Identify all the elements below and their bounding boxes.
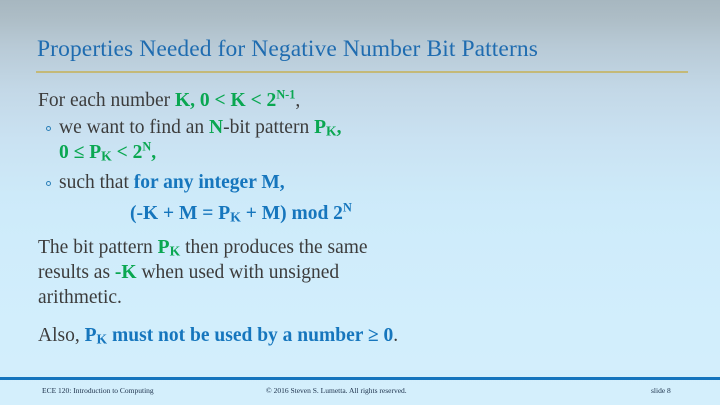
line6-suffix: then produces the same: [180, 237, 367, 258]
line2-prefix: we want to find an: [59, 117, 209, 138]
line2-p-subscript: K: [326, 123, 337, 138]
line9-prefix: Also,: [38, 325, 85, 346]
bullet-circle-icon: [46, 181, 51, 186]
body-line-1: For each number K, 0 < K < 2N-1,: [38, 88, 720, 113]
body-line-9: Also, PK must not be used by a number ≥ …: [38, 323, 720, 348]
line8-text: arithmetic.: [38, 287, 122, 308]
line9-period: .: [393, 325, 398, 346]
line3-math-prefix: 0 ≤ P: [59, 142, 101, 163]
footer-slide-number: slide 8: [651, 386, 671, 395]
line9-p: P: [85, 325, 97, 346]
equation-mid: + M) mod 2: [241, 203, 343, 224]
line1-math: K, 0 < K < 2: [175, 90, 276, 111]
body-line-5-equation: (-K + M = PK + M) mod 2N: [130, 201, 720, 226]
body-line-8: arithmetic.: [38, 285, 720, 310]
equation-superscript: N: [343, 201, 352, 215]
line9-emphasis: must not be used by a number ≥ 0: [107, 325, 393, 346]
body-line-6: The bit pattern PK then produces the sam…: [38, 235, 720, 260]
body-line-7: results as -K when used with unsigned: [38, 260, 720, 285]
equation-subscript: K: [230, 209, 241, 224]
footer-divider-bar: [0, 377, 720, 380]
title-underline-rule: [36, 71, 688, 73]
equation-prefix: (-K + M = P: [130, 203, 230, 224]
line7-prefix: results as: [38, 262, 115, 283]
line9-p-subscript: K: [97, 331, 108, 346]
presentation-slide: Properties Needed for Negative Number Bi…: [0, 0, 720, 405]
line3-superscript: N: [142, 140, 151, 154]
line2-mid: -bit pattern: [223, 117, 314, 138]
line2-suffix: ,: [337, 117, 342, 138]
body-line-2: we want to find an N-bit pattern PK,: [46, 115, 720, 140]
line1-superscript: N-1: [276, 88, 295, 102]
line6-p-subscript: K: [170, 243, 181, 258]
line6-p: P: [158, 237, 170, 258]
line1-suffix: ,: [295, 90, 300, 111]
line2-p: P: [314, 117, 326, 138]
bullet-circle-icon: [46, 126, 51, 131]
line7-negative-k: -K: [115, 262, 137, 283]
slide-body: For each number K, 0 < K < 2N-1, we want…: [0, 88, 720, 348]
slide-title: Properties Needed for Negative Number Bi…: [37, 36, 538, 63]
footer-course-label: ECE 120: Introduction to Computing: [42, 386, 154, 395]
line3-subscript: K: [101, 148, 112, 163]
line7-suffix: when used with unsigned: [137, 262, 340, 283]
line1-prefix: For each number: [38, 90, 175, 111]
body-line-3: 0 ≤ PK < 2N,: [46, 140, 720, 165]
line4-prefix: such that: [59, 172, 134, 193]
line6-prefix: The bit pattern: [38, 237, 158, 258]
footer-copyright: © 2016 Steven S. Lumetta. All rights res…: [266, 386, 407, 395]
body-line-4: such that for any integer M,: [46, 170, 720, 195]
line2-n: N: [209, 117, 223, 138]
line4-emphasis: for any integer M,: [134, 172, 285, 193]
line3-math-suffix: < 2: [112, 142, 143, 163]
line3-end: ,: [151, 142, 156, 163]
